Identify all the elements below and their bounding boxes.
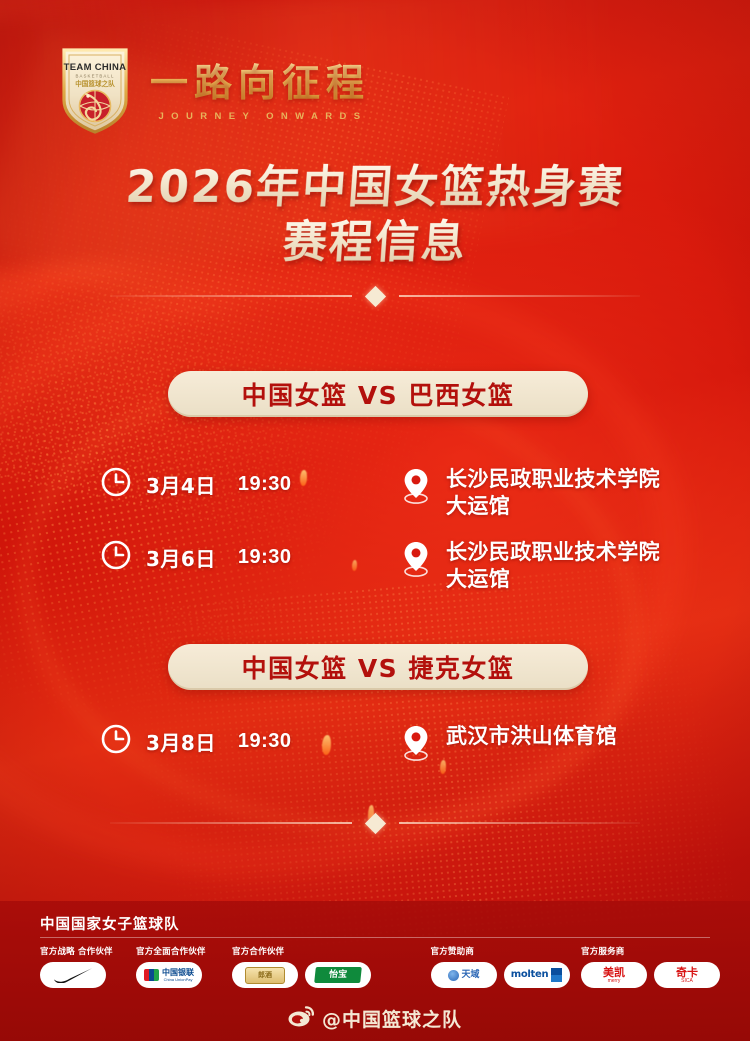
svg-text:TEAM CHINA: TEAM CHINA <box>64 62 127 73</box>
svg-text:BASKETBALL: BASKETBALL <box>75 74 114 79</box>
divider-top <box>110 287 640 305</box>
location-pin-icon <box>400 723 432 768</box>
brand-title-cn: 一路向征程 <box>150 52 370 107</box>
sponsor-logo-molten[interactable]: molten <box>504 962 570 988</box>
divider-diamond-icon <box>364 285 385 306</box>
schedule-row: 3月8日 19:30 武汉市洪山体育馆 <box>100 723 680 768</box>
sponsor-logo-list: 郎酒 怡宝 <box>232 962 430 988</box>
location-pin-icon <box>400 466 432 511</box>
match-pill-2: 中国女篮 VS 捷克女篮 <box>168 644 588 690</box>
merry-wordmark: 美凯 merry <box>603 967 625 984</box>
match-pill-1: 中国女篮 VS 巴西女篮 <box>168 371 588 417</box>
sponsor-logo-tianyu[interactable]: 天域 <box>431 962 497 988</box>
clock-icon <box>100 539 132 576</box>
sponsor-category: 官方战略 合作伙伴 <box>40 945 136 957</box>
footer-divider <box>40 937 710 938</box>
schedule-row: 3月4日 19:30 长沙民政职业技术学院大运馆 <box>100 466 680 520</box>
schedule-row: 3月6日 19:30 长沙民政职业技术学院大运馆 <box>100 539 680 593</box>
sponsor-group: 官方服务商 美凯 merry 奇卡 SICA <box>581 945 720 988</box>
location-pin-icon <box>400 539 432 584</box>
match-pill-label: 中国女篮 VS 巴西女篮 <box>242 376 515 412</box>
sponsor-group: 官方合作伙伴 郎酒 怡宝 <box>232 945 430 988</box>
weibo-credit[interactable]: @中国篮球之队 <box>0 1005 750 1032</box>
poster-footer: 中国国家女子篮球队 官方战略 合作伙伴 官方全面合作伙伴 <box>0 901 750 1041</box>
divider-line-right <box>399 822 641 824</box>
venue-name: 长沙民政职业技术学院大运馆 <box>446 466 680 520</box>
unionpay-sub: China UnionPay <box>162 977 194 982</box>
schedule-row-venue: 武汉市洪山体育馆 <box>400 723 617 768</box>
venue-name: 武汉市洪山体育馆 <box>446 723 617 750</box>
bg-vignette <box>0 0 750 1041</box>
tianyu-mark-icon <box>448 970 459 981</box>
match-time: 19:30 <box>238 546 292 569</box>
brand-lockup: 一路向征程 JOURNEY ONWARDS <box>150 52 370 122</box>
title-line-1: 2026年中国女篮热身赛 <box>0 160 750 215</box>
divider-line-left <box>110 295 352 297</box>
gold-badge-icon: 郎酒 <box>245 967 285 984</box>
unionpay-mark-icon <box>144 969 159 981</box>
divider-line-left <box>110 822 352 824</box>
match-time: 19:30 <box>238 730 292 753</box>
nike-swoosh-icon <box>52 967 94 983</box>
sponsor-group: 官方战略 合作伙伴 <box>40 945 136 988</box>
title-line-2: 赛程信息 <box>0 215 750 270</box>
clock-icon <box>100 723 132 760</box>
sica-wordmark: 奇卡 SICA <box>676 967 698 984</box>
schedule-row-venue: 长沙民政职业技术学院大运馆 <box>400 539 680 593</box>
poster-header: TEAM CHINA BASKETBALL 中国篮球之队 一路向征程 JOURN… <box>0 38 750 138</box>
sponsor-category: 官方服务商 <box>581 945 720 957</box>
sponsor-logo-china-unionpay[interactable]: 中国银联 China UnionPay <box>136 962 202 988</box>
sponsor-logo-nike[interactable] <box>40 962 106 988</box>
match-time: 19:30 <box>238 473 292 496</box>
sponsor-logo-list <box>40 962 136 988</box>
sponsor-logo-list: 中国银联 China UnionPay <box>136 962 232 988</box>
divider-diamond-icon <box>364 812 385 833</box>
sponsor-category: 官方全面合作伙伴 <box>136 945 232 957</box>
divider-line-right <box>399 295 641 297</box>
sponsor-category: 官方合作伙伴 <box>232 945 430 957</box>
match-pill-label: 中国女篮 VS 捷克女篮 <box>242 649 515 685</box>
sponsor-logo-gold[interactable]: 郎酒 <box>232 962 298 988</box>
sponsor-logo-merry[interactable]: 美凯 merry <box>581 962 647 988</box>
molten-bar-icon <box>551 968 562 982</box>
clock-icon <box>100 466 132 503</box>
match-date: 3月8日 <box>146 727 216 756</box>
yibao-badge-icon: 怡宝 <box>314 967 362 983</box>
match-date: 3月6日 <box>146 543 216 572</box>
sponsor-category: 官方赞助商 <box>431 945 581 957</box>
schedule-row-datetime: 3月6日 19:30 <box>100 539 400 576</box>
team-china-emblem-icon: TEAM CHINA BASKETBALL 中国篮球之队 <box>58 44 132 136</box>
divider-bottom <box>110 814 640 832</box>
match-date: 3月4日 <box>146 470 216 499</box>
footer-team-name: 中国国家女子篮球队 <box>40 913 180 934</box>
poster-title: 2026年中国女篮热身赛 赛程信息 <box>0 160 750 270</box>
sponsor-logo-list: 美凯 merry 奇卡 SICA <box>581 962 720 988</box>
weibo-icon <box>288 1005 314 1032</box>
brand-title-en: JOURNEY ONWARDS <box>150 111 370 122</box>
sponsor-logo-yibao[interactable]: 怡宝 <box>305 962 371 988</box>
poster-root: TEAM CHINA BASKETBALL 中国篮球之队 一路向征程 JOURN… <box>0 0 750 1041</box>
sponsor-groups: 官方战略 合作伙伴 官方全面合作伙伴 中国银联 <box>40 945 720 988</box>
svg-text:中国篮球之队: 中国篮球之队 <box>75 79 115 88</box>
sponsor-logo-sica[interactable]: 奇卡 SICA <box>654 962 720 988</box>
unionpay-wordmark: 中国银联 China UnionPay <box>162 969 194 982</box>
sponsor-logo-list: 天域 molten <box>431 962 581 988</box>
sponsor-group: 官方全面合作伙伴 中国银联 China UnionPay <box>136 945 232 988</box>
schedule-row-datetime: 3月4日 19:30 <box>100 466 400 503</box>
venue-name: 长沙民政职业技术学院大运馆 <box>446 539 680 593</box>
schedule-row-datetime: 3月8日 19:30 <box>100 723 400 760</box>
sponsor-group: 官方赞助商 天域 molten <box>431 945 581 988</box>
weibo-handle: @中国篮球之队 <box>322 1005 462 1032</box>
schedule-row-venue: 长沙民政职业技术学院大运馆 <box>400 466 680 520</box>
